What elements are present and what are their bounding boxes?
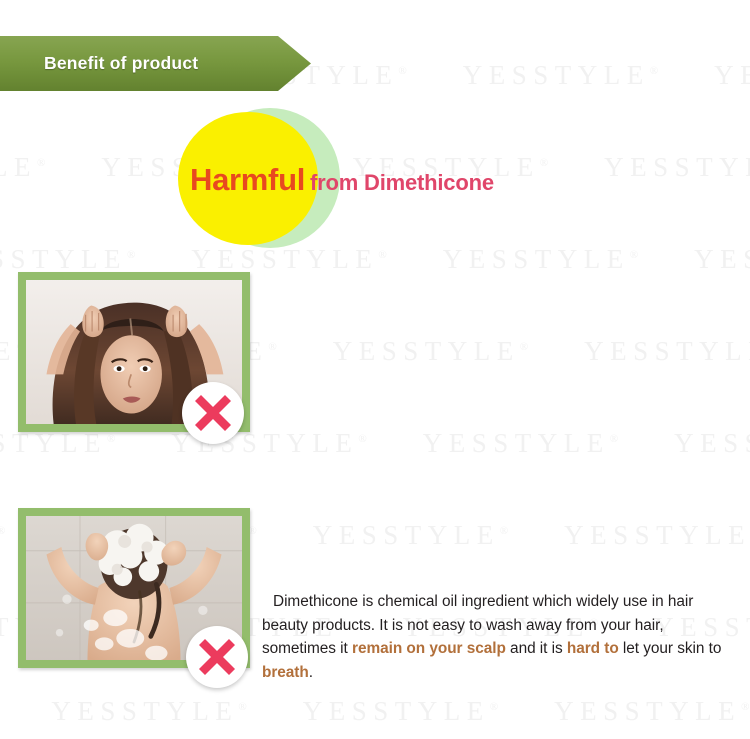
banner-title: Benefit of product: [44, 34, 198, 93]
section-scalp: Dimethicone is chemical oil ingredient w…: [0, 272, 750, 472]
red-cross-x-icon: [182, 382, 244, 444]
headline-strong-word: Harmful: [190, 162, 305, 197]
red-cross-x-icon: [186, 626, 248, 688]
headline-block: Harmfulfrom Dimethicone: [178, 108, 738, 250]
watermark-text: YESSTYLE®: [0, 244, 135, 274]
headline-text: Harmfulfrom Dimethicone: [190, 162, 494, 198]
benefit-banner: Benefit of product: [0, 34, 312, 93]
watermark-text: YESSTYLE®: [714, 60, 750, 90]
watermark-text: YESSTYLE®: [463, 60, 658, 90]
product-info-graphic: YESSTYLE®YESSTYLE®YESSTYLE®YESSTYLE®YESS…: [0, 0, 750, 739]
section-washing: Dimethicone is difficult to clean throug…: [0, 508, 750, 708]
headline-rest-words: from Dimethicone: [310, 170, 494, 195]
watermark-text: YESSTYLE®: [0, 152, 45, 182]
